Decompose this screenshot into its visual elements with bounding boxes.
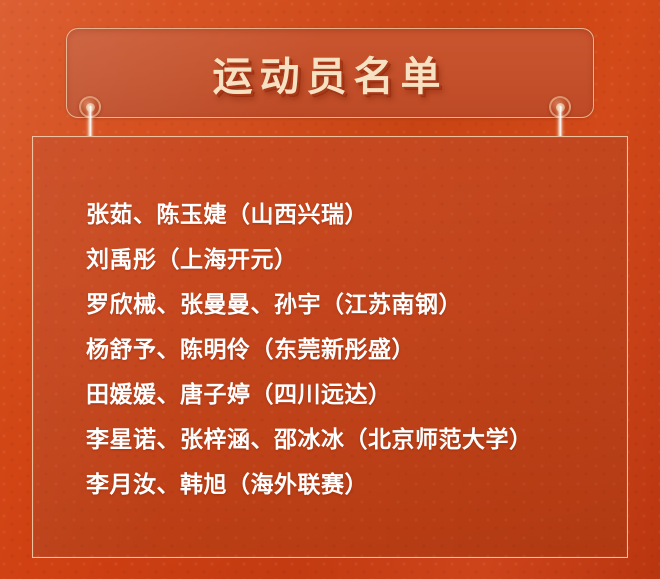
roster-row: 罗欣械、张曼曼、孙宇（江苏南钢）	[86, 282, 627, 327]
roster-row: 刘禹彤（上海开元）	[86, 237, 627, 282]
poster-stage: 运动员名单 张茹、陈玉婕（山西兴瑞）刘禹彤（上海开元）罗欣械、张曼曼、孙宇（江苏…	[0, 0, 660, 579]
roster-row: 田媛媛、唐子婷（四川远达）	[86, 372, 627, 417]
roster-row: 杨舒予、陈明伶（东莞新彤盛）	[86, 327, 627, 372]
roster-panel: 张茹、陈玉婕（山西兴瑞）刘禹彤（上海开元）罗欣械、张曼曼、孙宇（江苏南钢）杨舒予…	[32, 136, 628, 558]
roster-row: 张茹、陈玉婕（山西兴瑞）	[86, 192, 627, 237]
title-banner: 运动员名单	[66, 28, 594, 118]
roster-row: 李星诺、张梓涵、邵冰冰（北京师范大学）	[86, 417, 627, 462]
roster-list: 张茹、陈玉婕（山西兴瑞）刘禹彤（上海开元）罗欣械、张曼曼、孙宇（江苏南钢）杨舒予…	[33, 137, 627, 507]
page-title: 运动员名单	[213, 44, 448, 102]
roster-row: 李月汝、韩旭（海外联赛）	[86, 462, 627, 507]
